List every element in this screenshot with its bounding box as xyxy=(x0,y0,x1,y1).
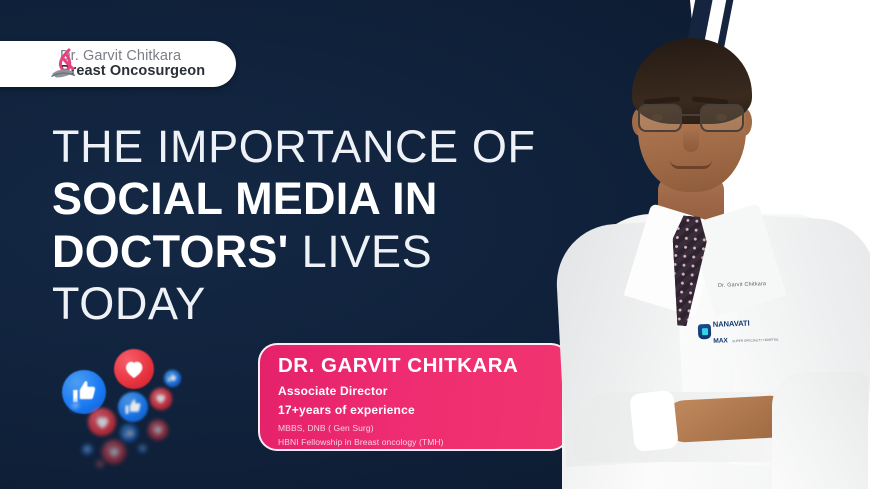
like-icon-bubble-11 xyxy=(138,444,147,453)
brand-logo-pill[interactable]: Dr. Garvit Chitkara Breast Oncosurgeon xyxy=(0,41,236,87)
doctor-name: DR. GARVIT CHITKARA xyxy=(278,355,568,378)
eyeglass-lens-left xyxy=(638,104,682,132)
love-icon-bubble-9 xyxy=(102,440,126,464)
love-icon-bubble-7 xyxy=(148,420,168,440)
mouth xyxy=(670,160,712,169)
like-icon-bubble-6 xyxy=(70,400,82,412)
doctor-portrait: Dr. Garvit Chitkara NANAVATI MAX SUPER S… xyxy=(540,0,870,489)
headline-line-4-text: TODAY xyxy=(52,278,206,329)
like-icon-bubble-10 xyxy=(82,444,93,455)
like-icon-bubble-2 xyxy=(164,370,181,387)
headline-line-3-light: LIVES xyxy=(302,226,433,277)
like-icon-bubble-4 xyxy=(118,392,148,422)
banner-root: Dr. Garvit Chitkara Breast Oncosurgeon T… xyxy=(0,0,870,489)
hospital-name-line-2: MAX xyxy=(713,337,728,344)
love-icon-bubble-12 xyxy=(96,460,104,468)
doctor-role: Associate Director xyxy=(278,384,568,398)
headline-line-3: DOCTORS' LIVES xyxy=(52,229,592,275)
headline-line-2: SOCIAL MEDIA IN xyxy=(52,176,592,222)
headline-line-1: THE IMPORTANCE OF xyxy=(52,124,592,170)
pink-ribbon-icon xyxy=(50,48,84,80)
headline-block: THE IMPORTANCE OF SOCIAL MEDIA IN DOCTOR… xyxy=(52,124,592,327)
doctor-qualification-2: HBNI Fellowship in Breast oncology (TMH) xyxy=(278,437,568,447)
hospital-name-line-1: NANAVATI xyxy=(713,319,750,329)
like-icon-bubble-8 xyxy=(120,424,138,442)
doctor-info-card: DR. GARVIT CHITKARA Associate Director 1… xyxy=(258,343,570,451)
love-icon-bubble-3 xyxy=(150,388,172,410)
eyeglass-lens-right xyxy=(700,104,744,132)
hospital-badge: NANAVATI MAX SUPER SPECIALITY HOSPITAL xyxy=(697,313,779,348)
love-icon-bubble-5 xyxy=(88,408,116,436)
headline-line-1-text: THE IMPORTANCE OF xyxy=(52,121,536,172)
sleeve-cuff xyxy=(629,390,679,452)
headline-line-4: TODAY xyxy=(52,281,592,327)
lab-coat-sleeve-right xyxy=(772,372,868,489)
hospital-badge-text: NANAVATI MAX SUPER SPECIALITY HOSPITAL xyxy=(712,313,779,347)
nose xyxy=(683,128,699,152)
hospital-name-line-3: SUPER SPECIALITY HOSPITAL xyxy=(732,338,779,344)
doctor-experience: 17+years of experience xyxy=(278,403,568,417)
doctor-qualification-1: MBBS, DNB ( Gen Surg) xyxy=(278,423,568,433)
hospital-logo-icon xyxy=(698,323,712,338)
eyeglass-bridge xyxy=(682,114,702,116)
love-icon-bubble-1 xyxy=(114,349,154,389)
reaction-bubble-cluster xyxy=(52,344,247,479)
headline-line-2-text: SOCIAL MEDIA IN xyxy=(52,173,438,224)
headline-line-3-bold: DOCTORS' xyxy=(52,226,289,277)
